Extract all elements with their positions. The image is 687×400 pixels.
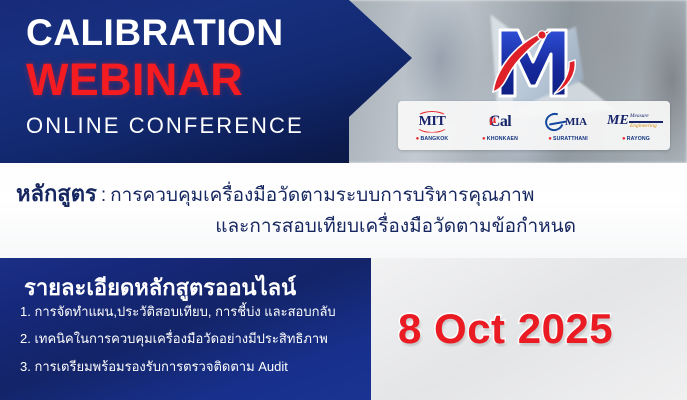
headline-calibration: CALIBRATION [26, 14, 356, 53]
branch-logo-rayong: ME Measure Engineering ●RAYONG [602, 101, 670, 150]
course-heading-row: หลักสูตร:การควบคุมเครื่องมือวัดตามระบบกา… [0, 177, 687, 211]
details-item-3: 3. การเตรียมพร้อมรองรับการตรวจติดตาม Aud… [20, 360, 370, 374]
mit-logo-icon: MIT [409, 110, 455, 134]
branch-city-rayong: ●RAYONG [622, 136, 650, 142]
branch-city-bangkok: ●BANGKOK [416, 136, 449, 142]
location-pin-icon: ● [416, 136, 420, 142]
mia-logo-icon: MIA [543, 110, 593, 134]
branch-city-khonkaen: ●KHONKAEN [482, 136, 518, 142]
branch-logo-suratthani: MIA ●SURATTHANI [534, 101, 602, 150]
me-logo-icon: ME Measure Engineering [607, 110, 665, 134]
me-sub-measure: Measure [630, 113, 649, 119]
me-logo-text: ME [607, 113, 629, 129]
branch-logo-khonkaen: Cal µ ●KHONKAEN [466, 101, 534, 150]
headline-webinar: WEBINAR [26, 55, 356, 105]
details-list: 1. การจัดทำแผน,ประวัติสอบเทียบ, การชี้บ่… [20, 305, 370, 387]
course-label: หลักสูตร [16, 181, 97, 206]
course-title-line1: การควบคุมเครื่องมือวัดตามระบบการบริหารคุ… [110, 185, 534, 206]
branch-logo-bangkok: MIT ●BANGKOK [398, 101, 466, 150]
course-title-band: หลักสูตร:การควบคุมเครื่องมือวัดตามระบบกา… [0, 163, 687, 258]
details-title: รายละเอียดหลักสูตรออนไลน์ [24, 270, 296, 305]
cal-logo-icon: Cal µ [476, 110, 524, 134]
location-pin-icon: ● [548, 136, 552, 142]
branch-logo-card: MIT ●BANGKOK Cal µ ●KHONKAEN [398, 101, 670, 150]
course-title-line2: และการสอบเทียบเครื่องมือวัดตามข้อกำหนด [0, 213, 687, 242]
details-item-1: 1. การจัดทำแผน,ประวัติสอบเทียบ, การชี้บ่… [20, 305, 370, 319]
details-item-2: 2. เทคนิคในการควบคุมเครื่องมือวัดอย่างมี… [20, 332, 370, 346]
event-date: 8 Oct 2025 [398, 305, 613, 353]
mit-logo-text: MIT [409, 114, 455, 130]
headline-online-conference: ONLINE CONFERENCE [26, 113, 356, 139]
mia-logo-text: MIA [565, 116, 587, 128]
location-pin-icon: ● [482, 136, 486, 142]
header-band: CALIBRATION WEBINAR ONLINE CONFERENCE [0, 0, 687, 163]
micro-symbol-icon: µ [489, 115, 496, 126]
webinar-banner: CALIBRATION WEBINAR ONLINE CONFERENCE [0, 0, 687, 400]
headline-group: CALIBRATION WEBINAR ONLINE CONFERENCE [26, 14, 356, 140]
me-sub-engineering: Engineering [630, 123, 657, 129]
branch-city-suratthani: ●SURATTHANI [548, 136, 588, 142]
course-separator: : [97, 185, 110, 206]
cal-logo-text: Cal [476, 113, 524, 131]
m-monogram-logo [478, 16, 588, 106]
location-pin-icon: ● [622, 136, 626, 142]
